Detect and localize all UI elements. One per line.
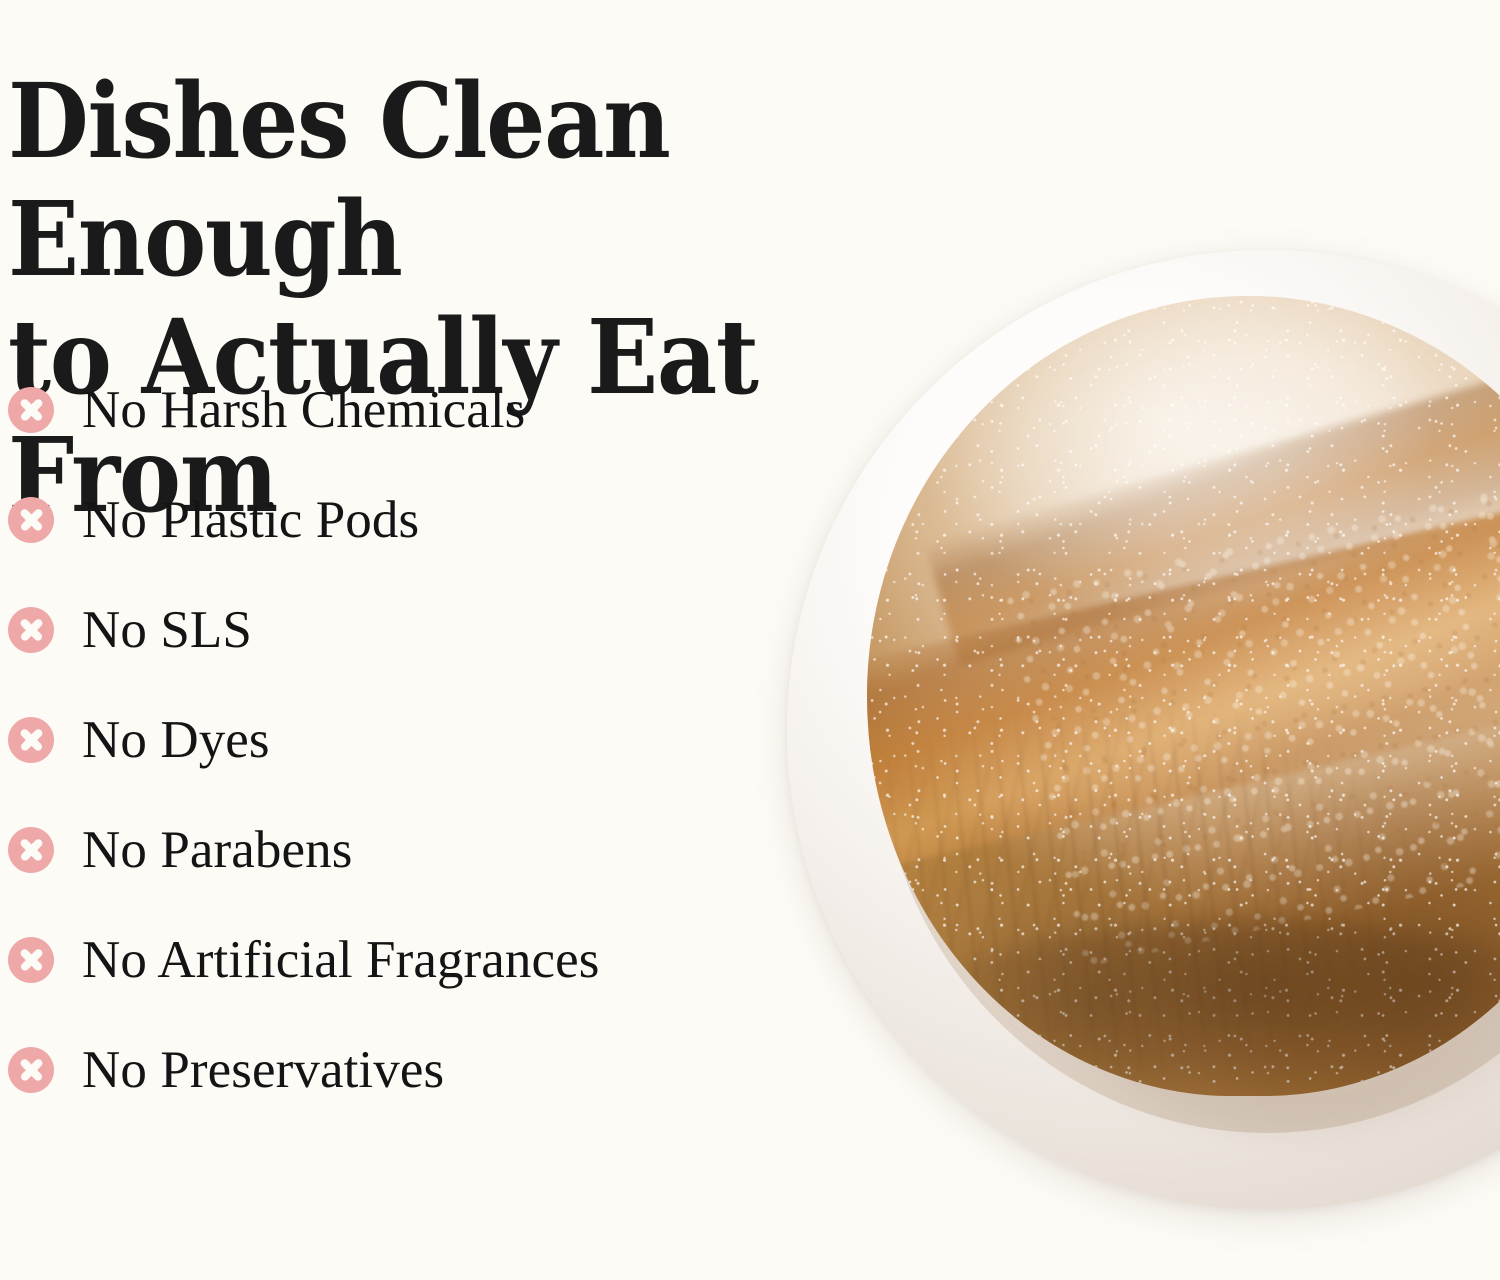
list-item: No Harsh Chemicals (0, 355, 780, 465)
benefit-label: No SLS (82, 604, 252, 657)
benefit-label: No Dyes (82, 714, 270, 767)
promo-banner: Dishes Clean Enough to Actually Eat From… (0, 0, 1500, 1280)
list-item: No Parabens (0, 795, 780, 905)
benefit-label: No Artificial Fragrances (82, 934, 600, 987)
x-circle-icon (8, 387, 54, 433)
x-circle-icon (8, 717, 54, 763)
x-circle-icon (8, 497, 54, 543)
x-circle-icon (8, 937, 54, 983)
benefit-label: No Parabens (82, 824, 352, 877)
benefit-label: No Harsh Chemicals (82, 384, 525, 437)
list-item: No SLS (0, 575, 780, 685)
x-circle-icon (8, 1047, 54, 1093)
x-circle-icon (8, 607, 54, 653)
sourdough-loaf (867, 296, 1500, 1096)
list-item: No Artificial Fragrances (0, 905, 780, 1015)
benefit-list: No Harsh Chemicals No Plastic Pods No SL… (0, 355, 780, 1125)
benefit-label: No Plastic Pods (82, 494, 419, 547)
list-item: No Preservatives (0, 1015, 780, 1125)
list-item: No Plastic Pods (0, 465, 780, 575)
benefit-label: No Preservatives (82, 1044, 444, 1097)
product-photo (745, 0, 1500, 1280)
list-item: No Dyes (0, 685, 780, 795)
x-circle-icon (8, 827, 54, 873)
